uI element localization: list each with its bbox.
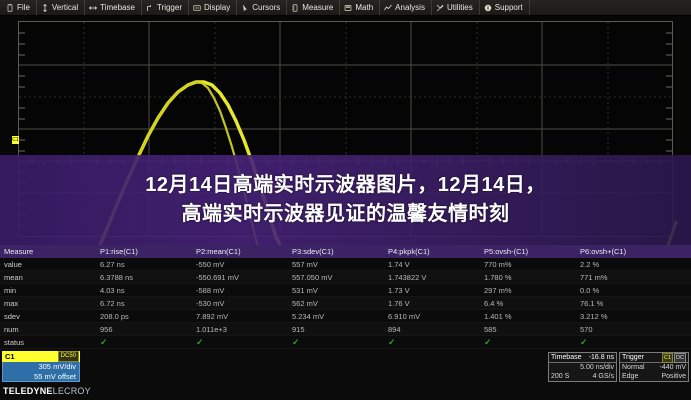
header-measure-label: Measure (0, 247, 96, 256)
header-p4[interactable]: P4:pkpk(C1) (384, 247, 480, 256)
menu-label: Vertical (52, 4, 78, 12)
horizontal-arrows-icon (89, 4, 97, 12)
menu-label: Timebase (100, 4, 135, 12)
trigger-type-row: Edge Positive (620, 372, 688, 381)
menu-label: Utilities (447, 4, 473, 12)
timebase-memory-row: 200 S 4 GS/s (549, 372, 616, 381)
article-title-overlay: 12月14日高端实时示波器图片，12月14日， 高端实时示波器见证的温馨友情时刻 (0, 155, 691, 245)
cell-value: 5.234 mV (288, 312, 384, 321)
cell-value: 76.1 % (576, 299, 672, 308)
trigger-coupling-chip[interactable]: DC (674, 353, 686, 363)
table-row: sdev 208.0 ps 7.892 mV 5.234 mV 6.910 mV… (0, 310, 691, 323)
logo-lecroy: LECROY (53, 386, 91, 396)
cell-value: 557 mV (288, 260, 384, 269)
status-row: status ✓ ✓ ✓ ✓ ✓ ✓ (0, 336, 691, 349)
menu-item-utilities[interactable]: Utilities (432, 0, 480, 15)
cell-value: 1.780 % (480, 273, 576, 282)
menu-item-file[interactable]: File (2, 0, 37, 15)
overlay-title-line-1: 12月14日高端实时示波器图片，12月14日， (145, 172, 545, 199)
menu-item-cursors[interactable]: Cursors (237, 0, 287, 15)
channel-1-coupling-badge[interactable]: DC50 (58, 351, 79, 362)
row-label: max (0, 299, 96, 308)
cell-value: 915 (288, 325, 384, 334)
channel-1-offset: 55 mV offset (34, 372, 76, 382)
cell-value: 208.0 ps (96, 312, 192, 321)
menu-bar-filler (530, 0, 691, 15)
menu-item-display[interactable]: Display (189, 0, 237, 15)
menu-label: Analysis (395, 4, 425, 12)
bottom-status-bar: C1 DC50 305 mV/div 55 mV offset TELEDYNE… (0, 350, 691, 400)
utilities-tools-icon (436, 4, 444, 12)
row-label: status (0, 338, 96, 347)
cell-value: 3.212 % (576, 312, 672, 321)
menu-label: Support (495, 4, 523, 12)
cell-value: 6.72 ns (96, 299, 192, 308)
timebase-title: Timebase (551, 354, 581, 361)
cell-value: 585 (480, 325, 576, 334)
channel-1-settings[interactable]: 305 mV/div 55 mV offset (2, 362, 80, 382)
timebase-scale-row: 5.00 ns/div (549, 363, 616, 372)
cell-value: 1.011e+3 (192, 325, 288, 334)
cell-value: 7.892 mV (192, 312, 288, 321)
cell-value: -530 mV (192, 299, 288, 308)
header-p6[interactable]: P6:ovsh+(C1) (576, 247, 672, 256)
row-label: min (0, 286, 96, 295)
menu-label: Cursors (252, 4, 280, 12)
oscilloscope-app: File Vertical Timebase Trigger Display C… (0, 0, 691, 400)
trigger-mode: Normal (622, 364, 645, 371)
trigger-header: Trigger C1 DC (620, 353, 688, 363)
status-badge: ✓ (96, 338, 192, 347)
display-screen-icon (193, 4, 201, 12)
trigger-slope: Positive (661, 373, 686, 380)
trigger-mode-row: Normal -440 mV (620, 363, 688, 372)
timebase-header: Timebase -16.8 ns (549, 353, 616, 363)
header-p1[interactable]: P1:rise(C1) (96, 247, 192, 256)
file-icon (6, 4, 14, 12)
timebase-delay: -16.8 ns (589, 354, 614, 361)
table-row: max 6.72 ns -530 mV 562 mV 1.76 V 6.4 % … (0, 297, 691, 310)
cell-value: 2.2 % (576, 260, 672, 269)
trigger-source-chips: C1 DC (662, 353, 686, 363)
trigger-type: Edge (622, 373, 638, 380)
channel-1-panel[interactable]: C1 DC50 305 mV/div 55 mV offset (2, 351, 80, 382)
menu-label: Math (355, 4, 373, 12)
measurement-table: Measure P1:rise(C1) P2:mean(C1) P3:sdev(… (0, 245, 691, 350)
status-badge: ✓ (384, 338, 480, 347)
cell-value: 531 mV (288, 286, 384, 295)
menu-item-timebase[interactable]: Timebase (85, 0, 142, 15)
cell-value: 1.74 V (384, 260, 480, 269)
cell-value: 956 (96, 325, 192, 334)
row-label: num (0, 325, 96, 334)
info-circle-icon (484, 4, 492, 12)
status-badge: ✓ (576, 338, 672, 347)
cell-value: 771 m% (576, 273, 672, 282)
cell-value: 894 (384, 325, 480, 334)
menu-item-trigger[interactable]: Trigger (142, 0, 189, 15)
menu-item-math[interactable]: Math (340, 0, 380, 15)
overlay-title-line-2: 高端实时示波器见证的温馨友情时刻 (182, 201, 510, 228)
cell-value: -550.691 mV (192, 273, 288, 282)
cell-value: 770 m% (480, 260, 576, 269)
header-p3[interactable]: P3:sdev(C1) (288, 247, 384, 256)
header-p5[interactable]: P5:ovsh-(C1) (480, 247, 576, 256)
table-header-row: Measure P1:rise(C1) P2:mean(C1) P3:sdev(… (0, 245, 691, 258)
timebase-scale: 5.00 ns/div (580, 364, 614, 371)
analysis-trend-icon (384, 4, 392, 12)
row-label: mean (0, 273, 96, 282)
menu-item-measure[interactable]: Measure (287, 0, 340, 15)
status-badge: ✓ (480, 338, 576, 347)
menu-label: Trigger (157, 4, 182, 12)
menu-item-support[interactable]: Support (480, 0, 530, 15)
timebase-sample-rate: 4 GS/s (593, 373, 614, 380)
trigger-title: Trigger (622, 354, 644, 361)
trigger-source-chip[interactable]: C1 (662, 353, 673, 363)
teledyne-lecroy-logo: TELEDYNELECROY (3, 386, 91, 397)
timebase-memory: 200 S (551, 373, 569, 380)
cell-value: 557.050 mV (288, 273, 384, 282)
main-menu-bar: File Vertical Timebase Trigger Display C… (0, 0, 691, 16)
menu-label: File (17, 4, 30, 12)
row-label: sdev (0, 312, 96, 321)
trigger-panel[interactable]: Trigger C1 DC Normal -440 mV Edge Positi… (619, 352, 689, 382)
channel-1-header[interactable]: C1 DC50 (2, 351, 80, 362)
channel-1-offset-marker[interactable]: C1 (12, 136, 19, 144)
cell-value: -588 mV (192, 286, 288, 295)
logo-teledyne: TELEDYNE (3, 386, 53, 396)
measure-ruler-icon (291, 4, 299, 12)
cell-value: 1.401 % (480, 312, 576, 321)
cell-value: 0.0 % (576, 286, 672, 295)
menu-item-vertical[interactable]: Vertical (37, 0, 85, 15)
channel-1-scale: 305 mV/div (38, 362, 76, 372)
cell-value: 6.910 mV (384, 312, 480, 321)
timebase-panel[interactable]: Timebase -16.8 ns 5.00 ns/div 200 S 4 GS… (548, 352, 617, 382)
header-p2[interactable]: P2:mean(C1) (192, 247, 288, 256)
channel-1-label: C1 (5, 353, 15, 361)
menu-label: Measure (302, 4, 333, 12)
cell-value: 1.76 V (384, 299, 480, 308)
table-row: min 4.03 ns -588 mV 531 mV 1.73 V 297 m%… (0, 284, 691, 297)
cell-value: 6.27 ns (96, 260, 192, 269)
cell-value: -550 mV (192, 260, 288, 269)
status-badge: ✓ (288, 338, 384, 347)
table-row: value 6.27 ns -550 mV 557 mV 1.74 V 770 … (0, 258, 691, 271)
math-calculator-icon (344, 4, 352, 12)
trigger-level: -440 mV (660, 364, 686, 371)
cell-value: 6.3788 ns (96, 273, 192, 282)
table-row: num 956 1.011e+3 915 894 585 570 (0, 323, 691, 336)
cell-value: 4.03 ns (96, 286, 192, 295)
trigger-slope-icon (146, 4, 154, 12)
cell-value: 570 (576, 325, 672, 334)
menu-label: Display (204, 4, 230, 12)
cell-value: 1.743822 V (384, 273, 480, 282)
cell-value: 6.4 % (480, 299, 576, 308)
menu-item-analysis[interactable]: Analysis (380, 0, 432, 15)
table-row: mean 6.3788 ns -550.691 mV 557.050 mV 1.… (0, 271, 691, 284)
cell-value: 1.73 V (384, 286, 480, 295)
cell-value: 562 mV (288, 299, 384, 308)
cell-value: 297 m% (480, 286, 576, 295)
cursor-arrow-icon (241, 4, 249, 12)
vertical-ruler-ticks-right (666, 33, 672, 151)
row-label: value (0, 260, 96, 269)
status-badge: ✓ (192, 338, 288, 347)
vertical-arrows-icon (41, 4, 49, 12)
